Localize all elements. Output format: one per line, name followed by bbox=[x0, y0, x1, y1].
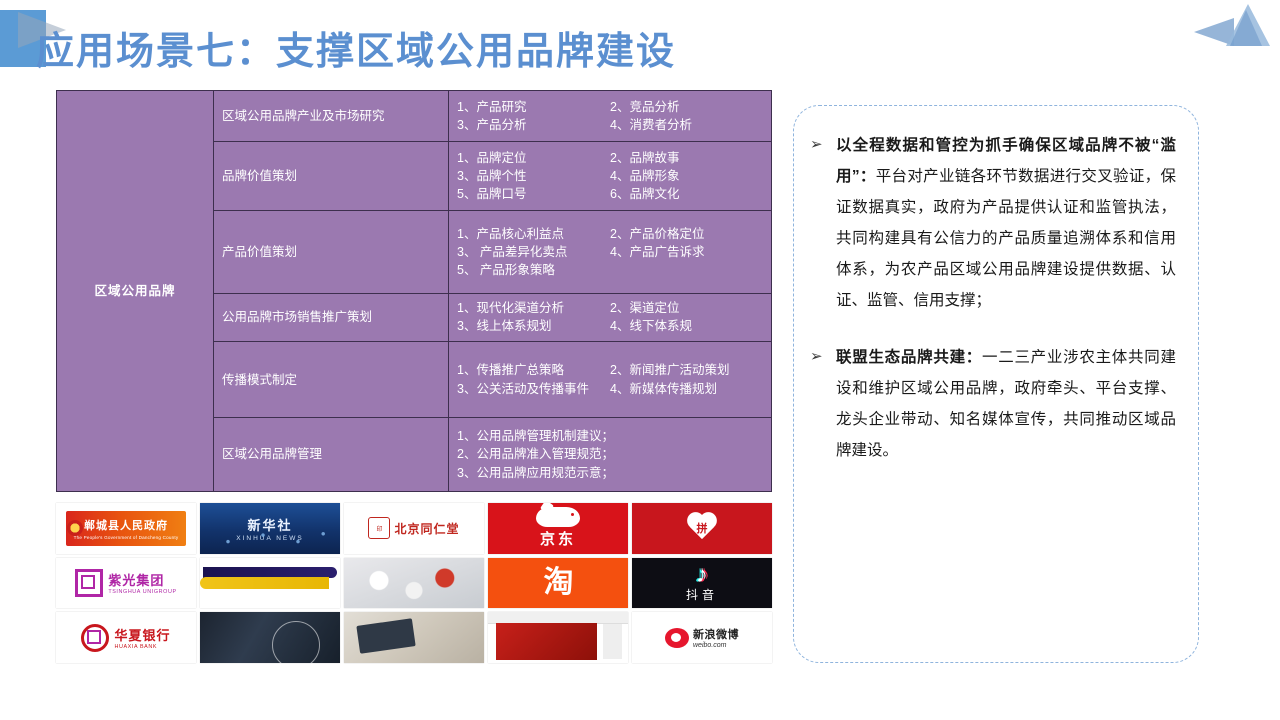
table-item: 5、品牌口号 bbox=[457, 185, 610, 203]
table-item: 4、消费者分析 bbox=[610, 116, 763, 134]
insight-item: ➢以全程数据和管控为抓手确保区域品牌不被“滥用”：平台对产业链各环节数据进行交叉… bbox=[810, 130, 1176, 316]
logo-tile-spoon-graphic bbox=[200, 558, 340, 609]
table-item: 2、渠道定位 bbox=[610, 299, 763, 317]
table-topic-cell: 公用品牌市场销售推广策划 bbox=[214, 293, 449, 342]
logo-cn: 新浪微博 bbox=[693, 626, 739, 642]
table-item: 3、线上体系规划 bbox=[457, 317, 610, 335]
logo-cn: 淘 bbox=[544, 568, 573, 598]
table-item: 1、公用品牌管理机制建议； bbox=[457, 427, 763, 445]
logo-cn: 拼 bbox=[697, 520, 708, 536]
table-item: 4、线下体系规 bbox=[610, 317, 763, 335]
insight-body-text: 平台对产业链各环节数据进行交叉验证，保证数据真实，政府为产品提供认证和监管执法，… bbox=[836, 168, 1176, 309]
table-items-cell: 1、公用品牌管理机制建议；2、公用品牌准入管理规范；3、公用品牌应用规范示意； bbox=[449, 418, 772, 492]
bullet-arrow-icon: ➢ bbox=[810, 342, 836, 466]
insight-panel: ➢以全程数据和管控为抓手确保区域品牌不被“滥用”：平台对产业链各环节数据进行交叉… bbox=[793, 105, 1199, 663]
logo-cn: 郸城县人民政府 bbox=[84, 517, 168, 533]
logo-tile-sina-weibo: 新浪微博weibo.com bbox=[632, 612, 772, 663]
table-items-cell: 1、产品研究2、竞品分析3、产品分析4、消费者分析 bbox=[449, 91, 772, 142]
page-title: 应用场景七：支撑区域公用品牌建设 bbox=[36, 20, 676, 75]
insight-text: 以全程数据和管控为抓手确保区域品牌不被“滥用”：平台对产业链各环节数据进行交叉验… bbox=[836, 130, 1176, 316]
table-items-cell: 1、现代化渠道分析2、渠道定位3、线上体系规划4、线下体系规 bbox=[449, 293, 772, 342]
table-item: 3、 产品差异化卖点 bbox=[457, 243, 610, 261]
table-items-cell: 1、品牌定位2、品牌故事3、品牌个性4、品牌形象5、品牌口号6、品牌文化 bbox=[449, 141, 772, 211]
table-item: 1、现代化渠道分析 bbox=[457, 299, 610, 317]
decor-triangles bbox=[1194, 2, 1272, 52]
table-lead-cell: 区域公用品牌 bbox=[57, 91, 214, 492]
table-item: 4、产品广告诉求 bbox=[610, 243, 763, 261]
huaxia-mark-icon bbox=[81, 624, 109, 652]
table-items-cell: 1、传播推广总策略2、新闻推广活动策划3、公关活动及传播事件4、新媒体传播规划 bbox=[449, 342, 772, 418]
logo-tile-douyin-tiktok: ♪抖音 bbox=[632, 558, 772, 609]
table-item: 3、品牌个性 bbox=[457, 167, 610, 185]
insight-text: 联盟生态品牌共建：一二三产业涉农主体共同建设和维护区域公用品牌，政府牵头、平台支… bbox=[836, 342, 1176, 466]
table-item: 5、 产品形象策略 bbox=[457, 261, 610, 279]
table-topic-cell: 产品价值策划 bbox=[214, 211, 449, 293]
table-item: 4、新媒体传播规划 bbox=[610, 380, 763, 398]
table-item: 2、产品价格定位 bbox=[610, 225, 763, 243]
logo-tile-jd-com: 京东 bbox=[488, 503, 628, 554]
table-item: 1、品牌定位 bbox=[457, 149, 610, 167]
national-emblem-icon bbox=[67, 520, 83, 536]
logo-tile-handshake-globe-photo bbox=[200, 612, 340, 663]
bullet-arrow-icon: ➢ bbox=[810, 130, 836, 316]
logo-en: HUAXIA BANK bbox=[114, 644, 170, 650]
logo-en: weibo.com bbox=[693, 642, 739, 649]
network-graphic-icon bbox=[200, 526, 340, 552]
logo-tile-beijing-tongrentang: 印北京同仁堂 bbox=[344, 503, 484, 554]
logo-tile-pinduoduo: 拼 bbox=[632, 503, 772, 554]
table-item: 2、公用品牌准入管理规范； bbox=[457, 445, 763, 463]
logo-tile-tsinghua-unigroup: 紫光集团TSINGHUA UNIGROUP bbox=[56, 558, 196, 609]
spoon-yellow-icon bbox=[200, 577, 329, 589]
table-item: 1、产品核心利益点 bbox=[457, 225, 610, 243]
joy-dog-icon bbox=[536, 507, 580, 527]
logo-en: TSINGHUA UNIGROUP bbox=[108, 589, 176, 595]
table-item: 3、公关活动及传播事件 bbox=[457, 380, 610, 398]
unigroup-mark-icon bbox=[75, 569, 103, 597]
table-item: 6、品牌文化 bbox=[610, 185, 763, 203]
table-item: 2、竞品分析 bbox=[610, 98, 763, 116]
logo-tile-huaxia-bank: 华夏银行HUAXIA BANK bbox=[56, 612, 196, 663]
table-item: 1、传播推广总策略 bbox=[457, 361, 610, 379]
logo-cn: 紫光集团 bbox=[108, 570, 176, 589]
table-items-cell: 1、产品核心利益点2、产品价格定位3、 产品差异化卖点4、产品广告诉求5、 产品… bbox=[449, 211, 772, 293]
logo-cn: 京东 bbox=[540, 528, 576, 549]
logo-cn: 华夏银行 bbox=[114, 625, 170, 644]
table-item: 3、产品分析 bbox=[457, 116, 610, 134]
table-item: 2、品牌故事 bbox=[610, 149, 763, 167]
shop-banner-image bbox=[496, 623, 597, 660]
logo-tile-devices-photo bbox=[344, 612, 484, 663]
table-topic-cell: 品牌价值策划 bbox=[214, 141, 449, 211]
logo-tile-taobao: 淘 bbox=[488, 558, 628, 609]
decor-triangle-overlay-icon bbox=[1230, 10, 1262, 46]
table-topic-cell: 区域公用品牌产业及市场研究 bbox=[214, 91, 449, 142]
table-item: 1、产品研究 bbox=[457, 98, 610, 116]
table-row: 区域公用品牌区域公用品牌产业及市场研究1、产品研究2、竞品分析3、产品分析4、消… bbox=[57, 91, 772, 142]
table-topic-cell: 传播模式制定 bbox=[214, 342, 449, 418]
logo-tile-xinhua-news: 新华社XINHUA NEWS bbox=[200, 503, 340, 554]
gov-banner: 郸城县人民政府The People's Government of Danche… bbox=[66, 511, 186, 546]
insight-item: ➢联盟生态品牌共建：一二三产业涉农主体共同建设和维护区域公用品牌，政府牵头、平台… bbox=[810, 342, 1176, 466]
brand-framework-table: 区域公用品牌区域公用品牌产业及市场研究1、产品研究2、竞品分析3、产品分析4、消… bbox=[56, 90, 772, 492]
logo-cn: 北京同仁堂 bbox=[394, 520, 459, 537]
table-topic-cell: 区域公用品牌管理 bbox=[214, 418, 449, 492]
logo-cn: 抖音 bbox=[686, 586, 718, 603]
partner-logo-grid: 郸城县人民政府The People's Government of Danche… bbox=[56, 503, 772, 663]
table-item: 3、公用品牌应用规范示意； bbox=[457, 464, 763, 482]
insight-heading: 联盟生态品牌共建： bbox=[836, 349, 982, 366]
logo-tile-robots-photo bbox=[344, 558, 484, 609]
table-item: 4、品牌形象 bbox=[610, 167, 763, 185]
music-note-icon: ♪ bbox=[696, 563, 708, 587]
logo-en: The People's Government of Dancheng Coun… bbox=[74, 535, 179, 540]
weibo-eye-icon bbox=[665, 628, 689, 648]
logo-tile-dancheng-government: 郸城县人民政府The People's Government of Danche… bbox=[56, 503, 196, 554]
red-seal-icon: 印 bbox=[368, 517, 390, 539]
table-item: 2、新闻推广活动策划 bbox=[610, 361, 763, 379]
shop-sidebar bbox=[603, 624, 623, 658]
logo-tile-ecommerce-page bbox=[488, 612, 628, 663]
